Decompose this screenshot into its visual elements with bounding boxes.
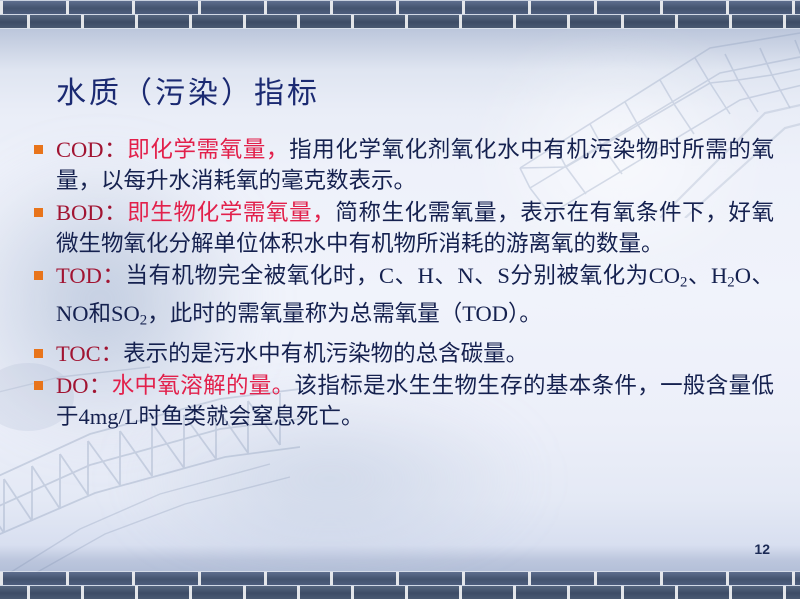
presentation-slide: 水质（污染）指标 COD：即化学需氧量，指用化学氧化剂氧化水中有机污染物时所需的…: [0, 0, 800, 599]
list-item-text: TOD：当有机物完全被氧化时，C、H、N、S分别被氧化为CO2、H2O、NO和S…: [56, 260, 774, 337]
square-bullet-icon: [34, 145, 43, 154]
term-label: TOC：: [56, 341, 123, 366]
term-label: DO：: [56, 373, 112, 398]
list-item-bod: BOD：即生物化学需氧量，简称生化需氧量，表示在有氧条件下，好氧微生物氧化分解单…: [34, 197, 774, 259]
brick-border-bottom: [0, 569, 800, 599]
square-bullet-icon: [34, 381, 43, 390]
term-highlight: 即生物化学需氧量，: [127, 200, 335, 225]
term-label: COD：: [56, 137, 127, 162]
list-item-text: BOD：即生物化学需氧量，简称生化需氧量，表示在有氧条件下，好氧微生物氧化分解单…: [56, 197, 774, 259]
term-body: 当有机物完全被氧化时，C、H、N、S分别被氧化为CO2、H2O、NO和SO2，此…: [56, 263, 774, 326]
term-label: BOD：: [56, 200, 127, 225]
term-highlight: 水中氧溶解的量。: [112, 373, 295, 398]
bullet-list: COD：即化学需氧量，指用化学氧化剂氧化水中有机污染物时所需的氧量，以每升水消耗…: [34, 134, 774, 433]
list-item-toc: TOC：表示的是污水中有机污染物的总含碳量。: [34, 338, 774, 369]
square-bullet-icon: [34, 208, 43, 217]
brick-row: [0, 15, 800, 29]
list-item-cod: COD：即化学需氧量，指用化学氧化剂氧化水中有机污染物时所需的氧量，以每升水消耗…: [34, 134, 774, 196]
term-body: 表示的是污水中有机污染物的总含碳量。: [123, 341, 528, 366]
brick-row: [0, 586, 800, 599]
square-bullet-icon: [34, 349, 43, 358]
brick-row: [0, 0, 800, 15]
brick-border-top: [0, 0, 800, 30]
list-item-text: TOC：表示的是污水中有机污染物的总含碳量。: [56, 338, 774, 369]
square-bullet-icon: [34, 271, 43, 280]
slide-title: 水质（污染）指标: [56, 68, 320, 112]
list-item-do: DO：水中氧溶解的量。该指标是水生生物生存的基本条件，一般含量低于4mg/L时鱼…: [34, 370, 774, 432]
list-item-text: DO：水中氧溶解的量。该指标是水生生物生存的基本条件，一般含量低于4mg/L时鱼…: [56, 370, 774, 432]
list-item-tod: TOD：当有机物完全被氧化时，C、H、N、S分别被氧化为CO2、H2O、NO和S…: [34, 260, 774, 337]
list-item-text: COD：即化学需氧量，指用化学氧化剂氧化水中有机污染物时所需的氧量，以每升水消耗…: [56, 134, 774, 196]
term-label: TOD：: [56, 263, 125, 288]
page-number: 12: [754, 541, 770, 557]
brick-row: [0, 571, 800, 586]
term-highlight: 即化学需氧量，: [127, 137, 289, 162]
